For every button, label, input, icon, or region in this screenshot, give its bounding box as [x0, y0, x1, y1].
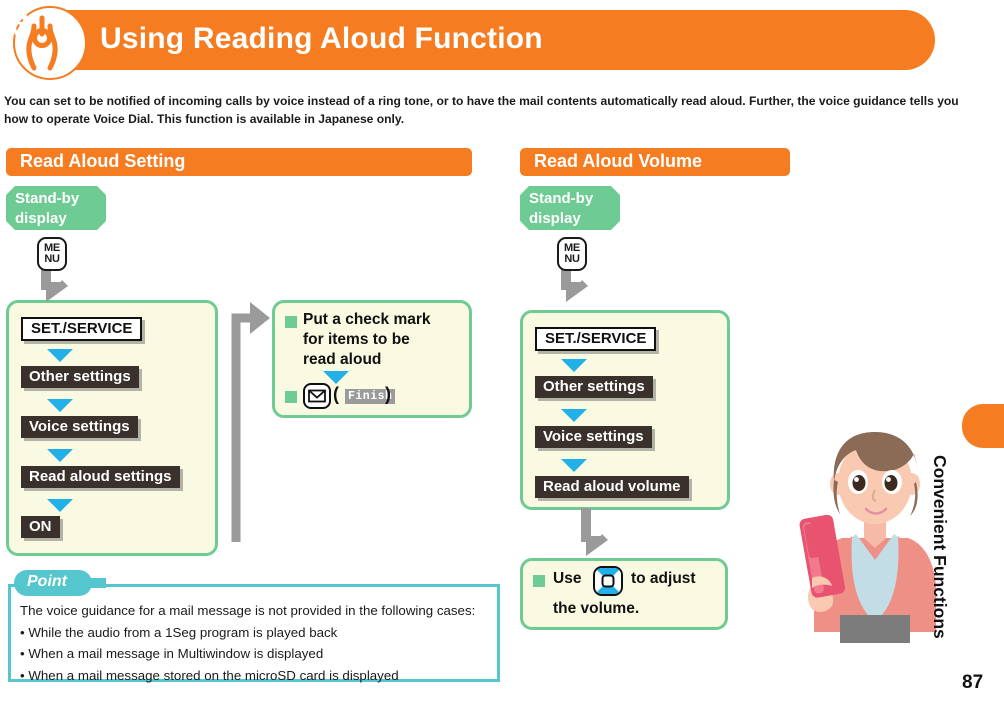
- flow-arrow-4: [47, 499, 73, 512]
- callout-line-1: Put a check mark: [303, 310, 468, 330]
- flow-step-4: Read aloud settings: [21, 466, 180, 488]
- page-number: 87: [962, 672, 983, 694]
- bullet-square-icon: [533, 575, 545, 587]
- open-paren: (: [333, 384, 339, 405]
- standby-display-node-left: Stand-by display: [6, 186, 106, 230]
- callout-to-adjust-label: to adjust: [631, 569, 696, 589]
- flow-arrow-2: [47, 399, 73, 412]
- point-note-body: The voice guidance for a mail message is…: [20, 600, 490, 686]
- bullet-square-icon-2: [285, 391, 297, 403]
- flow-arrow-2: [561, 409, 587, 422]
- mail-icon[interactable]: [303, 383, 331, 409]
- flow-step-2: Other settings: [535, 376, 653, 398]
- callout-adjust-volume: Use to adjust the volume.: [520, 558, 728, 630]
- flow-arrow-3: [47, 449, 73, 462]
- callout-line-3: read aloud: [303, 350, 468, 370]
- callout-line-2: for items to be: [303, 330, 468, 350]
- pliers-icon: [10, 6, 32, 38]
- bullet-square-icon: [285, 316, 297, 328]
- flow-arrow-1: [561, 359, 587, 372]
- side-tab-badge: [962, 404, 1004, 448]
- callout-arrow: [323, 371, 349, 384]
- section-title-read-aloud-setting: Read Aloud Setting: [6, 148, 472, 176]
- flow-connector-arrow: [214, 292, 284, 548]
- point-badge: Point: [14, 570, 92, 596]
- point-badge-label: Point: [27, 573, 67, 591]
- flow-arrow-3: [561, 459, 587, 472]
- flow-step-4: Read aloud volume: [535, 476, 689, 498]
- flow-step-1: SET./SERVICE: [535, 327, 656, 351]
- menu-key-line2: NU: [559, 253, 585, 265]
- intro-paragraph: You can set to be notified of incoming c…: [4, 92, 970, 128]
- point-item-2: • When a mail message in Multiwindow is …: [20, 643, 490, 665]
- callout-line-2: the volume.: [553, 599, 639, 619]
- flow-arrow-1: [47, 349, 73, 362]
- flow-box-read-aloud-volume: SET./SERVICE Other settings Voice settin…: [520, 310, 730, 510]
- point-item-1: • While the audio from a 1Seg program is…: [20, 622, 490, 644]
- callout-use-label: Use: [553, 569, 581, 589]
- point-item-3: • When a mail message stored on the micr…: [20, 665, 490, 687]
- flow-step-5: ON: [21, 516, 60, 538]
- section-title-label: Read Aloud Volume: [534, 151, 702, 172]
- flow-step-1: SET./SERVICE: [21, 317, 142, 341]
- flow-connector-arrow-right: [578, 508, 618, 564]
- standby-display-node-right: Stand-by display: [520, 186, 620, 230]
- dpad-icon[interactable]: [593, 566, 623, 596]
- flow-box-read-aloud-setting: SET./SERVICE Other settings Voice settin…: [6, 300, 218, 556]
- callout-put-check-mark: Put a check mark for items to be read al…: [272, 300, 472, 418]
- close-paren: ): [385, 384, 391, 405]
- menu-key-line2: NU: [39, 253, 65, 265]
- menu-key-left[interactable]: ME NU: [37, 237, 67, 271]
- flow-step-3: Voice settings: [21, 416, 138, 438]
- menu-key-right[interactable]: ME NU: [557, 237, 587, 271]
- flow-step-3: Voice settings: [535, 426, 652, 448]
- side-tab-label: Convenient Functions: [929, 455, 950, 685]
- page-title: Using Reading Aloud Function: [100, 22, 543, 56]
- page-root: Using Reading Aloud Function You can set…: [0, 0, 1004, 702]
- section-title-read-aloud-volume: Read Aloud Volume: [520, 148, 790, 176]
- flow-step-2: Other settings: [21, 366, 139, 388]
- section-title-label: Read Aloud Setting: [20, 151, 185, 172]
- point-intro: The voice guidance for a mail message is…: [20, 600, 490, 622]
